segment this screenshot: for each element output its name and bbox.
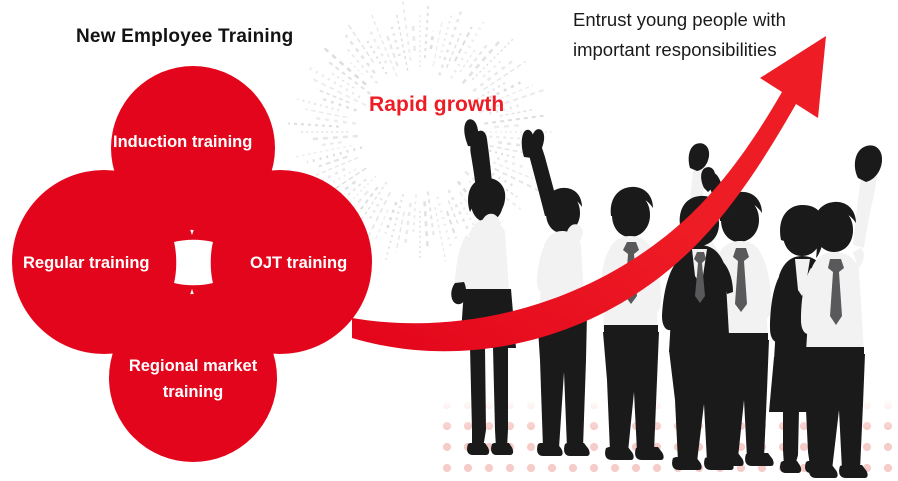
- clover-label-regular: Regular training: [23, 250, 150, 276]
- clover-center-cutout: [174, 240, 213, 286]
- entrust-caption-line2: important responsibilities: [573, 35, 786, 65]
- infographic-canvas: New Employee Training Rapid growth Entru…: [0, 0, 898, 481]
- clover-label-regional-market: Regional market training: [113, 353, 273, 405]
- clover-label-induction: Induction training: [113, 129, 252, 155]
- entrust-caption-line1: Entrust young people with: [573, 5, 786, 35]
- clover-label-ojt: OJT training: [250, 250, 347, 276]
- page-title: New Employee Training: [76, 26, 293, 48]
- entrust-caption: Entrust young people with important resp…: [573, 5, 786, 65]
- rapid-growth-label: Rapid growth: [369, 93, 504, 117]
- training-clover-diagram: [0, 0, 898, 481]
